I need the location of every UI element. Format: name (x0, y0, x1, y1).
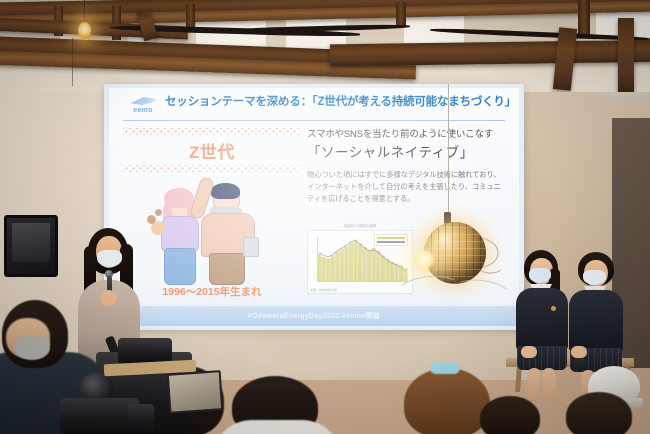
bulb-cord (72, 38, 73, 86)
slide-header: eemo セッションテーマを深める：「Z世代が考える持続可能なまちづくり」 (109, 88, 519, 120)
presenter-hand (100, 290, 117, 306)
uniform-badge (551, 306, 556, 311)
ceiling-post (578, 0, 590, 38)
lead-line-1: スマホやSNSを当たり前のように使いこなす (307, 126, 505, 140)
dotted-divider-top (123, 128, 301, 135)
student-panelist-1 (515, 250, 571, 390)
eemo-leaf-icon (130, 97, 156, 106)
audience-face-mask (14, 336, 50, 360)
slide-left-panel: Z世代 (123, 128, 301, 298)
monitor-grille (12, 223, 50, 262)
eemo-logo: eemo (125, 94, 161, 116)
ceiling-structure (0, 0, 650, 92)
edison-bulb-icon (78, 22, 91, 39)
ceiling-brace (618, 18, 634, 92)
illustration-figure-male (199, 181, 257, 283)
student-blazer (516, 288, 568, 350)
body-copy: 物心ついた頃にはすでに多様なデジタル技術に触れており、インターネットを介して自分… (307, 169, 505, 204)
audience-member-head (404, 368, 490, 434)
presenter-face-mask (97, 250, 122, 267)
birth-year-caption: 1996〜2015年生まれ (123, 284, 301, 299)
mini-chart-x-axis (317, 281, 408, 282)
slide-right-panel: スマホやSNSを当たり前のように使いこなす 「ソーシャルネイティブ」 物心ついた… (307, 126, 505, 204)
slide-title: セッションテーマを深める：「Z世代が考える持続可能なまちづくり」 (165, 93, 511, 109)
lead-line-2: 「ソーシャルネイティブ」 (307, 141, 505, 161)
eemo-logo-text: eemo (133, 107, 153, 114)
hair-clip (430, 362, 460, 374)
slide-footer: #OdawaraEnergyDay2022 #eemo開催 (109, 306, 519, 326)
audience-member-shoulders (212, 420, 342, 434)
ceiling-post (396, 2, 406, 26)
audience-member-head (480, 396, 540, 434)
student-face-mask (529, 268, 551, 283)
stage-monitor-speaker (4, 215, 58, 277)
legend-swatch-0 (377, 237, 405, 239)
legend-swatch-1 (377, 241, 405, 243)
mini-chart: 年齢別人口構成の推移 出典：総務省統計局 (307, 230, 413, 294)
student-hand (571, 346, 587, 358)
student-face-mask (583, 270, 606, 285)
ceiling-beam (330, 40, 650, 67)
mini-chart-caption: 出典：総務省統計局 (310, 288, 337, 292)
student-leg (542, 368, 557, 403)
slide-footer-text: #OdawaraEnergyDay2022 #eemo開催 (248, 311, 380, 321)
student-leg (526, 368, 541, 403)
event-photo-scene: eemo セッションテーマを深める：「Z世代が考える持続可能なまちづくり」 Z世… (0, 0, 650, 434)
student-hand (521, 346, 537, 358)
camera-flip-screen (167, 370, 224, 414)
mini-chart-y-axis (317, 236, 318, 282)
bulb-cord (84, 0, 85, 24)
mini-chart-legend (374, 234, 408, 246)
gen-z-heading: Z世代 (123, 135, 301, 165)
disco-ball-cord (448, 84, 449, 214)
audience-member-head (566, 392, 632, 434)
student-blazer (569, 290, 623, 352)
disco-bulb-icon (414, 250, 436, 272)
tripod-head (128, 404, 154, 434)
dotted-divider-bottom (123, 165, 301, 172)
mini-chart-title: 年齢別人口構成の推移 (308, 223, 412, 228)
gen-z-illustration (123, 175, 301, 283)
